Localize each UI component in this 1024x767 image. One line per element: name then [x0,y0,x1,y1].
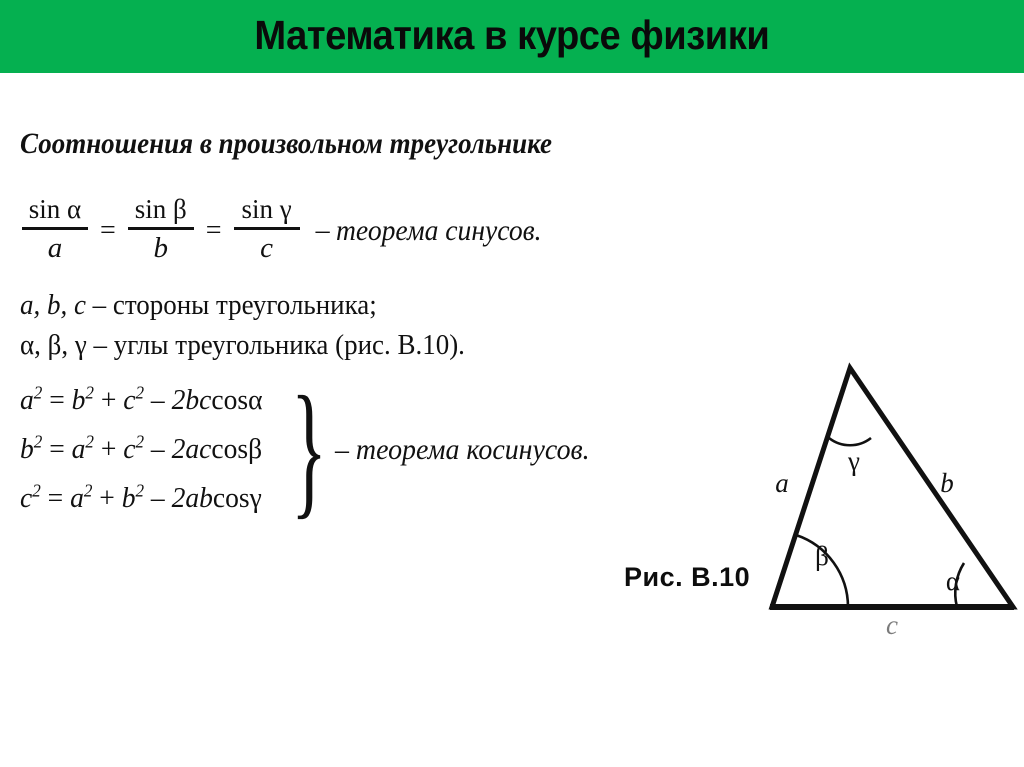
fraction-bar [22,227,88,230]
eq-minus: – [151,433,165,465]
eq-lhs-exponent: 2 [32,480,41,500]
eq-equals: = [49,384,65,416]
fraction-denominator: a [44,232,67,264]
fraction-numerator: sin β [131,194,191,224]
angle-label-alpha: α [946,566,960,596]
eq-lhs: c [20,482,32,514]
eq-coefficient: 2ac [172,433,212,465]
law-of-cosines-text: теорема косинусов. [356,433,590,466]
right-curly-brace-icon: } [291,403,327,496]
fraction-numerator: sin γ [237,194,295,224]
eq-plus: + [101,433,117,465]
eq-cos-function: cos [213,482,250,514]
triangle-diagram: a b c γ β α [600,350,1024,650]
law-of-sines-formula: sin α a = sin β b = sin γ c – теорема си… [20,182,640,278]
fraction-denominator: b [150,232,173,264]
eq-term2-exponent: 2 [135,382,144,402]
angle-arc-gamma [829,438,871,445]
curly-brace-group: } – теорема косинусов. [281,403,609,496]
eq-term2: c [123,384,135,416]
eq-equals: = [48,482,64,514]
definitions-block: a, b, c – стороны треугольника; α, β, γ … [20,286,640,365]
law-of-cosines-formula: a2 = b2 + c2 – 2bccosα b2 = a2 + c2 – 2a… [20,386,640,513]
cosine-equation-c: c2 = a2 + b2 – 2abcosγ [20,484,263,513]
side-label-b: b [940,468,954,498]
eq-angle: β [248,433,262,465]
fraction-numerator: sin α [25,194,85,224]
definition-symbols: a, b, c [20,289,86,321]
figure-triangle-container: Рис. В.10 a b c γ β α [600,350,1024,650]
eq-term2: c [123,433,135,465]
definition-sides: a, b, c – стороны треугольника; [20,286,597,324]
angle-label-gamma: γ [847,446,860,476]
eq-plus: + [99,482,115,514]
eq-minus: – [151,384,165,416]
definition-angles: α, β, γ – углы треугольника (рис. В.10). [20,326,597,364]
cosine-equations-list: a2 = b2 + c2 – 2bccosα b2 = a2 + c2 – 2a… [20,386,275,513]
eq-term1: b [72,384,86,416]
fraction-sin-gamma-over-c: sin γ c [232,194,302,265]
eq-term1-exponent: 2 [84,480,93,500]
em-dash-cosines: – [335,433,356,466]
law-of-sines-label: теорема синусов. [336,214,542,248]
side-label-a: a [775,468,789,498]
fraction-denominator: c [256,232,277,264]
side-label-c: c [886,610,898,640]
definition-dash: – [87,329,114,361]
eq-angle: γ [250,482,262,514]
em-dash-sines: – [302,215,336,247]
page-title: Математика в курсе физики [255,15,770,56]
math-content-column: Соотношения в произвольном треугольнике … [20,128,640,513]
definition-text: стороны треугольника; [113,289,377,321]
triangle-outline [772,368,1013,607]
eq-lhs: b [20,433,34,465]
definition-text: углы треугольника (рис. В.10). [114,329,465,361]
eq-cos-function: cos [211,433,248,465]
eq-term1-exponent: 2 [85,431,94,451]
cosine-equation-b: b2 = a2 + c2 – 2accosβ [20,435,263,464]
slide-header-bar: Математика в курсе физики [0,0,1024,73]
equals-sign-1: = [90,215,126,247]
fraction-sin-beta-over-b: sin β b [126,194,196,265]
law-of-cosines-label: – теорема косинусов. [335,433,590,467]
eq-cos-function: cos [211,384,248,416]
definition-dash: – [86,289,113,321]
eq-term1: a [72,433,86,465]
equals-sign-2: = [196,215,232,247]
eq-plus: + [101,384,117,416]
eq-lhs-exponent: 2 [34,431,43,451]
cosine-equation-a: a2 = b2 + c2 – 2bccosα [20,386,263,415]
definition-symbols: α, β, γ [20,329,87,361]
eq-coefficient: 2ab [172,482,213,514]
eq-term2-exponent: 2 [135,431,144,451]
eq-coefficient: 2bc [172,384,212,416]
eq-term2: b [122,482,136,514]
eq-term1: a [70,482,84,514]
eq-term1-exponent: 2 [85,382,94,402]
section-heading: Соотношения в произвольном треугольнике [20,128,578,160]
angle-label-beta: β [815,541,829,571]
eq-minus: – [151,482,165,514]
eq-angle: α [248,384,262,416]
eq-lhs-exponent: 2 [34,382,43,402]
fraction-bar [234,227,300,230]
fraction-sin-alpha-over-a: sin α a [20,194,90,265]
eq-equals: = [49,433,65,465]
eq-lhs: a [20,384,34,416]
fraction-bar [128,227,194,230]
eq-term2-exponent: 2 [135,480,144,500]
